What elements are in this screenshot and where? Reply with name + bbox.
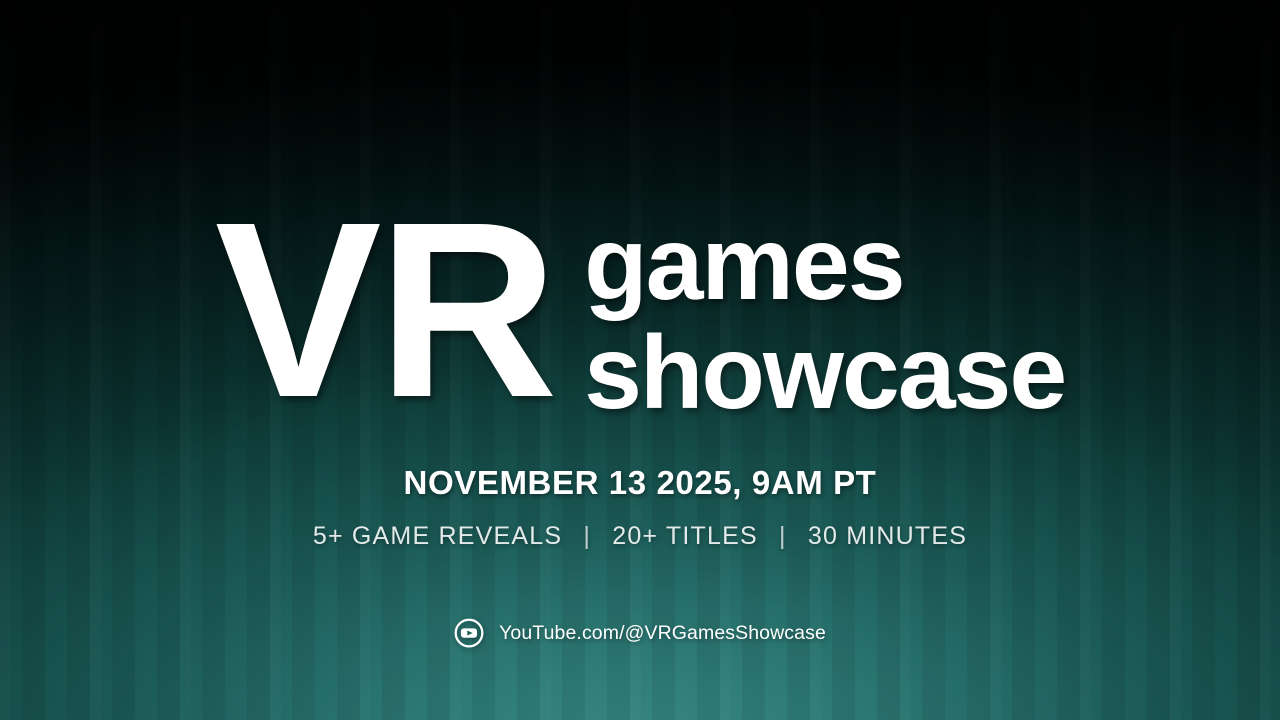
event-date: NOVEMBER 13 2025, 9AM PT <box>0 464 1280 502</box>
brand-mark-vr: VR <box>215 212 554 407</box>
poster-content: VR games showcase NOVEMBER 13 2025, 9AM … <box>0 0 1280 720</box>
title-stack: games showcase <box>584 210 1065 428</box>
title-line-games: games <box>584 210 1065 319</box>
youtube-play-icon <box>454 618 484 648</box>
title-line-showcase: showcase <box>584 319 1065 428</box>
channel-url: YouTube.com/@VRGamesShowcase <box>499 622 826 645</box>
stat-titles: 20+ TITLES <box>612 522 758 550</box>
stat-separator-1: | <box>570 522 604 551</box>
showcase-poster: VR games showcase NOVEMBER 13 2025, 9AM … <box>0 0 1280 720</box>
stat-game-reveals: 5+ GAME REVEALS <box>313 522 562 550</box>
stat-separator-2: | <box>766 522 800 551</box>
logo-lockup: VR games showcase <box>0 206 1280 428</box>
event-stats: 5+ GAME REVEALS | 20+ TITLES | 30 MINUTE… <box>0 522 1280 551</box>
stat-duration: 30 MINUTES <box>808 522 967 550</box>
footer-channel-link[interactable]: YouTube.com/@VRGamesShowcase <box>0 618 1280 648</box>
